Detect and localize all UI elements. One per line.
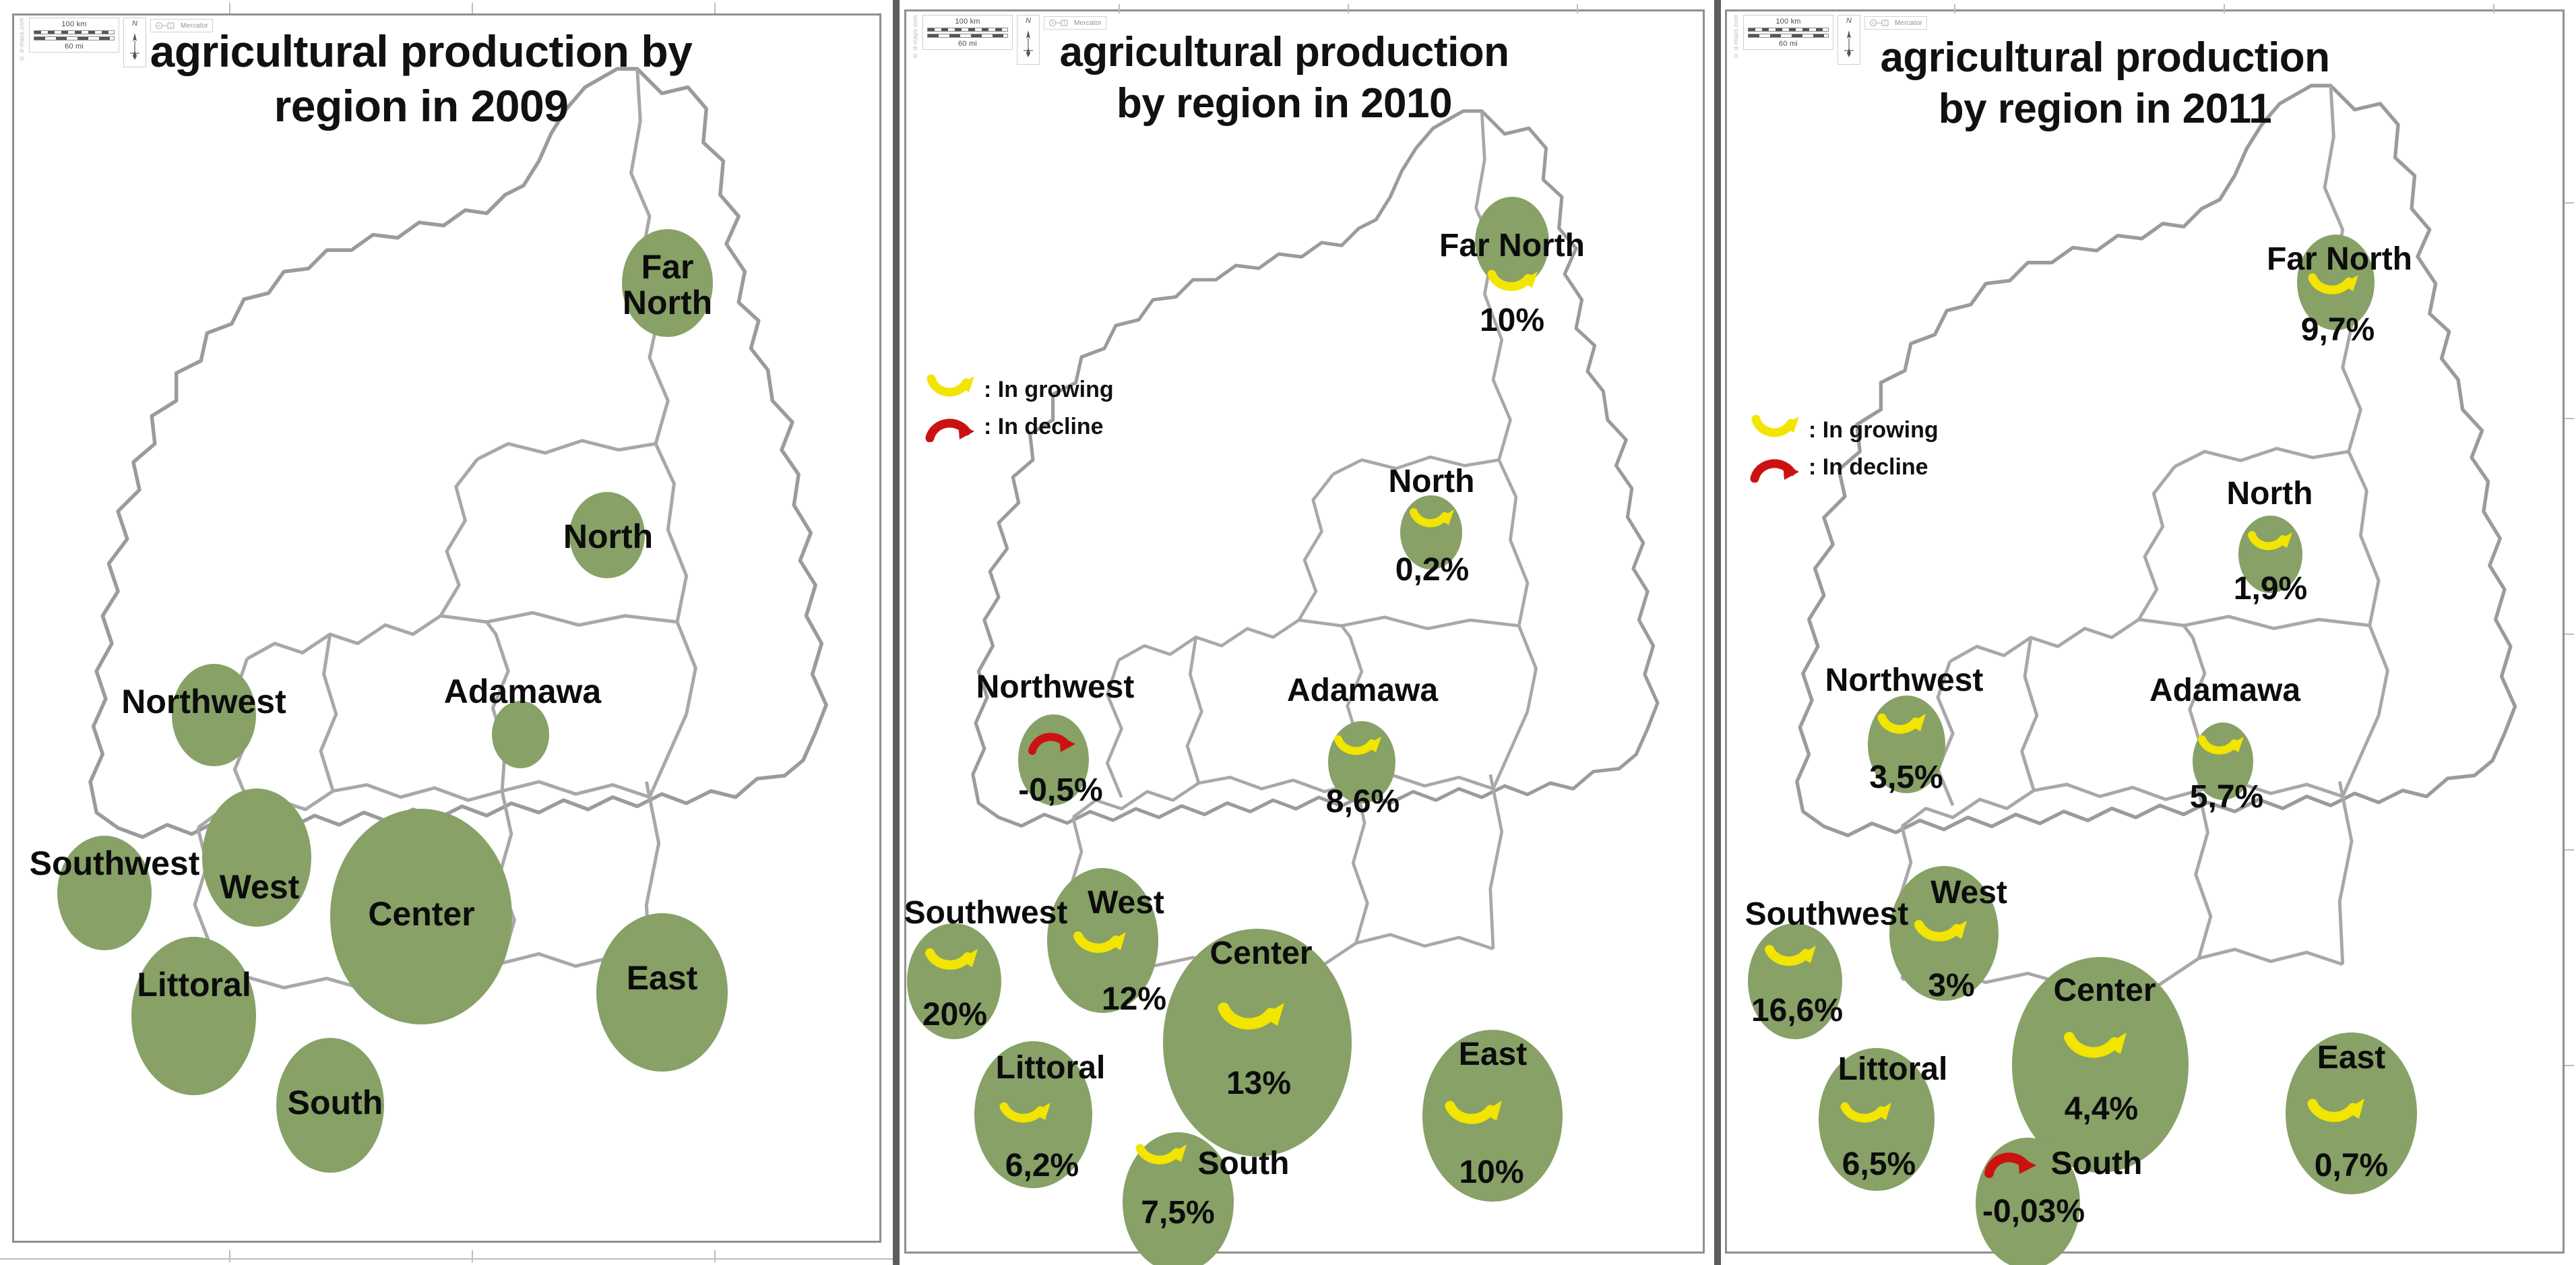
bubble-west[interactable]: [1047, 868, 1158, 1013]
ruler-tick: [1954, 4, 1955, 13]
bubble-adamawa[interactable]: [492, 701, 549, 768]
legend-row-growing: : In growing: [1749, 412, 1939, 448]
panel-2011-title: agricultural production by region in 201…: [1734, 32, 2476, 134]
bubble-north[interactable]: [1400, 495, 1462, 569]
bubble-littoral[interactable]: [131, 937, 256, 1095]
bubble-adamawa[interactable]: [1328, 721, 1395, 803]
copyright-text: © d-maps.com: [912, 15, 918, 61]
projection-badge: Mercator: [1864, 16, 1927, 30]
ruler-tick: [2224, 4, 2225, 13]
bubble-southwest[interactable]: [907, 923, 1001, 1039]
ruler-tick: [229, 1250, 230, 1262]
growing-arc-icon: [924, 372, 977, 407]
legend-row-growing: : In growing: [924, 372, 1114, 407]
panel-2010-title: agricultural production by region in 201…: [920, 27, 1648, 129]
projection-label: Mercator: [1074, 20, 1102, 27]
panel-divider-2: [1714, 0, 1721, 1265]
legend-decline-label: : In decline: [1809, 454, 1928, 481]
bubble-west[interactable]: [202, 789, 311, 927]
projection-globe-icon: [1869, 19, 1892, 27]
ruler-tick: [2565, 1065, 2574, 1066]
ruler-tick: [472, 1250, 473, 1262]
panel-2009: agricultural production by region in 200…: [0, 0, 893, 1265]
ruler-tick: [714, 1250, 716, 1262]
ruler-tick: [2565, 202, 2574, 204]
projection-globe-icon: [1048, 19, 1071, 27]
ruler-tick: [1119, 4, 1120, 13]
bubble-far-north[interactable]: [2297, 235, 2375, 330]
scale-km-label: 100 km: [1748, 18, 1829, 26]
decline-arc-icon: [924, 411, 977, 442]
panel-2009-title: agricultural production by region in 200…: [40, 24, 802, 133]
bubble-center[interactable]: [1163, 929, 1352, 1156]
growing-arc-icon: [1749, 412, 1802, 448]
ruler-tick: [2565, 849, 2574, 851]
bubble-far-north[interactable]: [1475, 197, 1549, 288]
bubble-north[interactable]: [569, 492, 645, 578]
legend-2011: : In growing : In decline: [1749, 412, 1939, 487]
bubble-littoral[interactable]: [1819, 1048, 1935, 1191]
bubble-northwest[interactable]: [1018, 714, 1089, 805]
panel-divider-1: [893, 0, 900, 1265]
north-label: N: [1846, 18, 1852, 25]
scale-km-label: 100 km: [927, 18, 1008, 26]
ruler-tick: [472, 3, 473, 13]
bubble-adamawa[interactable]: [2193, 722, 2253, 800]
bubble-east[interactable]: [2286, 1032, 2417, 1194]
panel-2010: agricultural production by region in 201…: [900, 0, 1714, 1265]
ruler-tick: [0, 1258, 893, 1260]
bubble-far-north[interactable]: [622, 229, 713, 337]
bubble-south[interactable]: [276, 1038, 384, 1173]
projection-label: Mercator: [1895, 20, 1922, 27]
bubble-center[interactable]: [330, 809, 512, 1024]
legend-row-decline: : In decline: [1749, 452, 1939, 483]
legend-row-decline: : In decline: [924, 411, 1114, 442]
bubble-northwest[interactable]: [172, 664, 256, 766]
bubble-southwest[interactable]: [1748, 923, 1842, 1039]
legend-2010: : In growing : In decline: [924, 372, 1114, 446]
panel-2011: agricultural production by region in 201…: [1721, 0, 2576, 1265]
bubble-east[interactable]: [596, 913, 728, 1072]
bubble-north[interactable]: [2238, 516, 2302, 593]
ruler-tick: [229, 3, 230, 13]
bubble-east[interactable]: [1422, 1030, 1563, 1202]
bubble-southwest[interactable]: [57, 836, 152, 950]
ruler-tick: [1348, 4, 1349, 13]
ruler-tick: [2565, 418, 2574, 419]
legend-growing-label: : In growing: [984, 377, 1114, 403]
decline-arc-icon: [1749, 452, 1802, 483]
triptych-map-figure: agricultural production by region in 200…: [0, 0, 2576, 1265]
legend-growing-label: : In growing: [1809, 417, 1939, 443]
ruler-tick: [1577, 4, 1578, 13]
scale-ruler-km: [1748, 28, 1829, 32]
bubble-northwest[interactable]: [1868, 696, 1945, 793]
bubble-littoral[interactable]: [974, 1041, 1092, 1188]
bubble-south[interactable]: [1976, 1138, 2080, 1265]
ruler-tick: [2493, 4, 2494, 13]
copyright-text: © d-maps.com: [19, 18, 25, 63]
legend-decline-label: : In decline: [984, 414, 1104, 440]
bubble-west[interactable]: [1889, 866, 1999, 1001]
ruler-tick: [714, 3, 716, 13]
north-label: N: [1026, 18, 1031, 25]
ruler-tick: [2565, 634, 2574, 635]
bubble-south[interactable]: [1123, 1132, 1234, 1265]
